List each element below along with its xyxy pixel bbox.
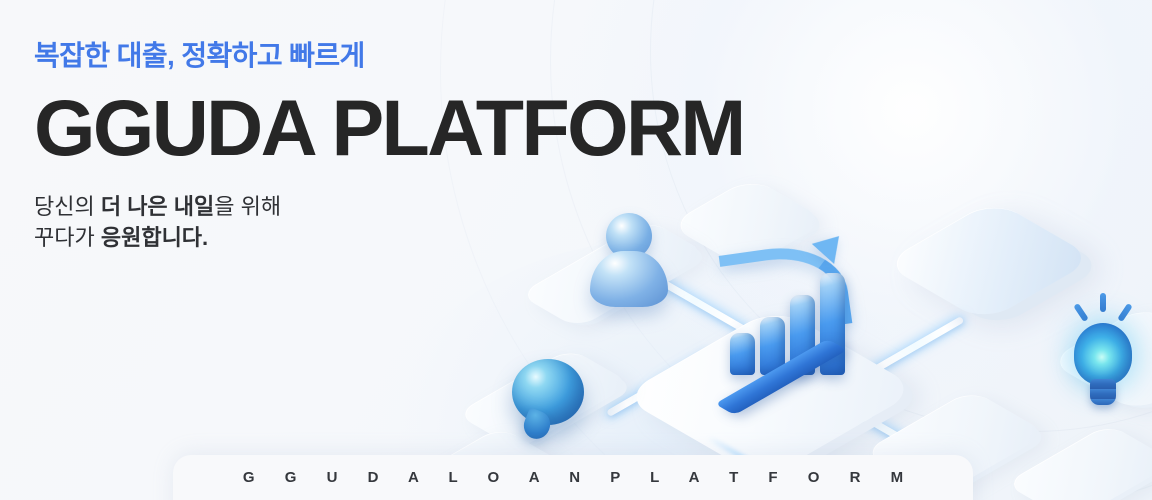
subtitle-emphasis: 응원합니다. bbox=[101, 225, 208, 250]
page-title: GGUDA PLATFORM bbox=[34, 90, 744, 165]
bulb-ray bbox=[1073, 303, 1089, 322]
subtitle-emphasis: 더 나은 내일 bbox=[101, 194, 214, 219]
bottom-banner-text: G G U D A L O A N P L A T F O R M bbox=[173, 469, 973, 486]
hero-copy: 복잡한 대출, 정확하고 빠르게 GGUDA PLATFORM 당신의 더 나은… bbox=[34, 34, 744, 254]
bulb-glass-shape bbox=[1074, 323, 1132, 385]
subtitle-text: 꾸다가 bbox=[34, 225, 101, 250]
subtitle-text: 당신의 bbox=[34, 194, 101, 219]
platform-tile bbox=[882, 199, 1095, 322]
hero-banner: 복잡한 대출, 정확하고 빠르게 GGUDA PLATFORM 당신의 더 나은… bbox=[0, 0, 1152, 500]
subtitle-text: 을 위해 bbox=[214, 194, 281, 219]
hero-tagline: 복잡한 대출, 정확하고 빠르게 bbox=[34, 34, 744, 74]
hero-subtitle-line-1: 당신의 더 나은 내일을 위해 bbox=[34, 191, 744, 222]
bulb-ray bbox=[1100, 293, 1106, 312]
hero-subtitle-line-2: 꾸다가 응원합니다. bbox=[34, 222, 744, 253]
bottom-banner-plate: G G U D A L O A N P L A T F O R M bbox=[173, 455, 973, 500]
bulb-screw-shape bbox=[1090, 379, 1116, 405]
chart-bar bbox=[730, 333, 755, 375]
bubble-body-shape bbox=[512, 359, 584, 425]
